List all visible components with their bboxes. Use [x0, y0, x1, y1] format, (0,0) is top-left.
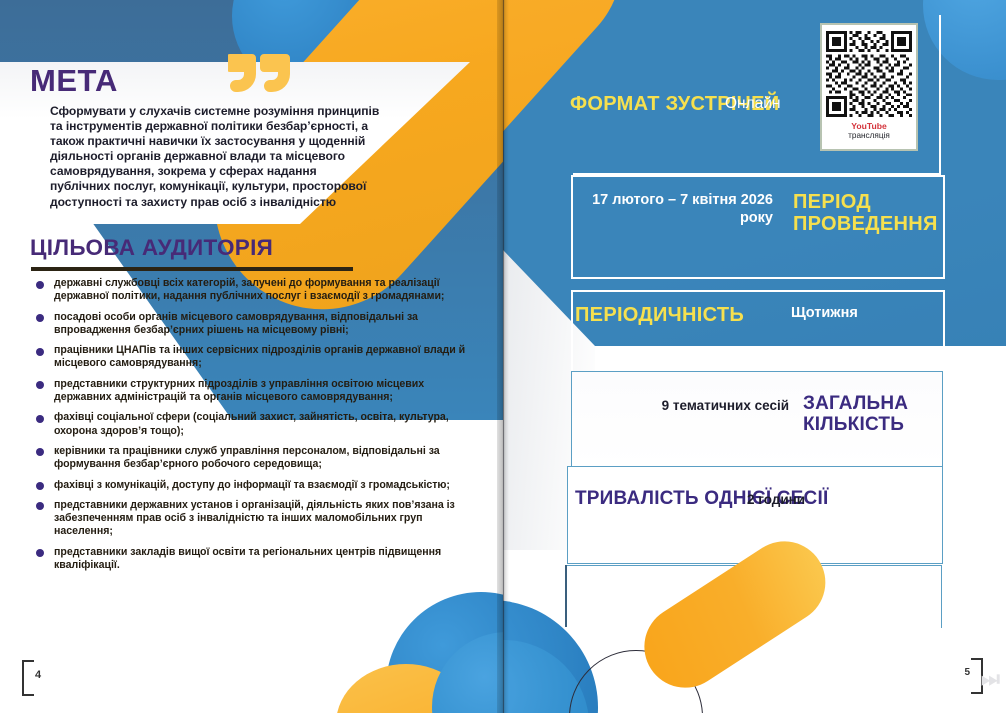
list-item-text: представники закладів вищої освіти та ре…	[54, 546, 441, 571]
list-item: представники структурних підрозділів з у…	[32, 378, 474, 405]
list-item-text: керівники та працівники служб управління…	[54, 445, 440, 470]
page-number-text: 4	[35, 669, 41, 681]
list-item-text: представники державних установ і організ…	[54, 499, 455, 538]
bullet-dot-icon	[36, 314, 44, 322]
panel-duration-value: 2 години	[747, 492, 805, 508]
panel-total-value: 9 тематичних сесій	[599, 398, 789, 414]
right-page: ФОРМАТ ЗУСТРІЧЕЙ Онлайн	[503, 0, 1006, 713]
quote-mark-icon	[228, 52, 292, 94]
bullet-dot-icon	[36, 381, 44, 389]
bullet-dot-icon	[36, 549, 44, 557]
list-item: керівники та працівники служб управління…	[32, 445, 474, 472]
goal-body-text: Сформувати у слухачів системне розуміння…	[50, 104, 380, 210]
page-number-left: 4	[22, 660, 48, 692]
page-bracket-icon	[22, 660, 34, 696]
audience-list: державні службовці всіх категорій, залуч…	[32, 277, 474, 579]
audience-title-rule	[31, 267, 353, 271]
list-item-text: посадові особи органів місцевого самовря…	[54, 311, 418, 336]
qr-caption-broadcast: трансляція	[826, 131, 912, 140]
list-item-text: представники структурних підрозділів з у…	[54, 378, 424, 403]
goal-title: МЕТА	[30, 63, 118, 99]
panel-empty-left-rule	[565, 565, 567, 627]
panel-period-value: 17 лютого – 7 квітня 2026 року	[573, 192, 773, 227]
list-item: представники закладів вищої освіти та ре…	[32, 546, 474, 573]
panel-duration-frame	[567, 466, 943, 564]
panel-format-value: Онлайн	[725, 95, 781, 114]
audience-title: ЦІЛЬОВА АУДИТОРІЯ	[30, 235, 273, 261]
qr-code-block[interactable]: YouTube трансляція	[820, 23, 918, 151]
list-item-text: фахівці соціальної сфери (соціальний зах…	[54, 411, 449, 436]
list-item: державні службовці всіх категорій, залуч…	[32, 277, 474, 304]
panel-periodicity-frame	[571, 290, 945, 374]
next-page-icon[interactable]: ⏭	[981, 668, 1000, 692]
list-item: працівники ЦНАПів та інших сервісних під…	[32, 344, 474, 371]
panel-period-label: ПЕРІОД ПРОВЕДЕННЯ	[793, 192, 1006, 235]
list-item: фахівці соціальної сфери (соціальний зах…	[32, 411, 474, 438]
page-number-right: 5	[955, 658, 983, 690]
page-number-text: 5	[964, 667, 970, 678]
bullet-dot-icon	[36, 281, 44, 289]
list-item-text: державні службовці всіх категорій, залуч…	[54, 277, 444, 302]
list-item: фахівці з комунікацій, доступу до інформ…	[32, 479, 474, 492]
list-item-text: працівники ЦНАПів та інших сервісних під…	[54, 344, 465, 369]
list-item: посадові особи органів місцевого самовря…	[32, 311, 474, 338]
bullet-dot-icon	[36, 482, 44, 490]
bullet-dot-icon	[36, 502, 44, 510]
qr-code-icon	[826, 29, 912, 119]
panel-periodicity-label: ПЕРІОДИЧНІСТЬ	[575, 305, 744, 327]
panel-periodicity-value: Щотижня	[791, 305, 858, 323]
panel-total-label: ЗАГАЛЬНА КІЛЬКІСТЬ	[803, 394, 1006, 435]
qr-caption-youtube: YouTube	[826, 122, 912, 131]
bullet-dot-icon	[36, 448, 44, 456]
list-item: представники державних установ і організ…	[32, 499, 474, 539]
bullet-dot-icon	[36, 348, 44, 356]
list-item-text: фахівці з комунікацій, доступу до інформ…	[54, 479, 450, 491]
left-page: МЕТА Сформувати у слухачів системне розу…	[0, 0, 503, 713]
bullet-dot-icon	[36, 415, 44, 423]
brochure-spread: МЕТА Сформувати у слухачів системне розу…	[0, 0, 1006, 713]
